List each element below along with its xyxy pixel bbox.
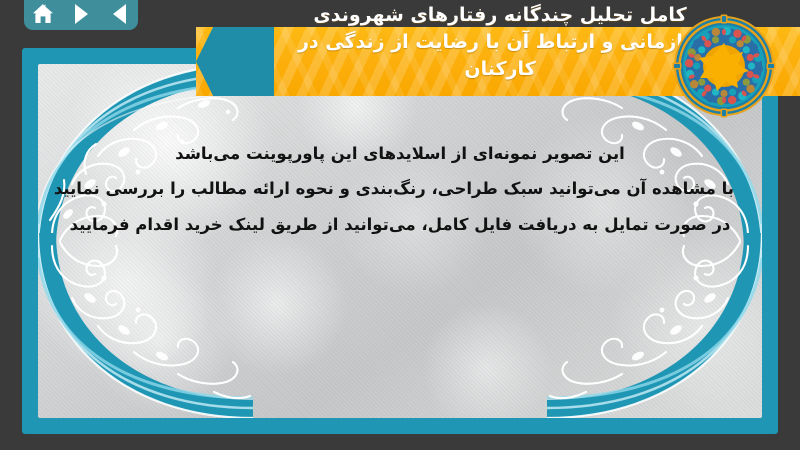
slide-viewer: کامل تحلیل چندگانه رفتارهای شهروندی سازم… [0, 0, 800, 450]
slide-content-area: این تصویر نمونه‌ای از اسلایدهای این پاور… [38, 64, 762, 418]
slide-body-text: این تصویر نمونه‌ای از اسلایدهای این پاور… [66, 142, 734, 237]
home-icon [31, 3, 55, 25]
corner-ornament-bottom-right [547, 233, 762, 418]
body-line-2: با مشاهده آن می‌توانید سبک طراحی، رنگ‌بن… [66, 177, 734, 201]
background-texture [38, 64, 762, 418]
slide-frame: این تصویر نمونه‌ای از اسلایدهای این پاور… [22, 48, 778, 434]
slide-navigation-bar [24, 0, 138, 30]
home-button[interactable] [29, 2, 57, 26]
triangle-left-icon [113, 4, 126, 24]
triangle-right-icon [75, 4, 88, 24]
body-line-3: در صورت تمایل به دریافت فایل کامل، می‌تو… [66, 213, 734, 237]
body-line-1: این تصویر نمونه‌ای از اسلایدهای این پاور… [66, 142, 734, 166]
corner-ornament-bottom-left [38, 233, 253, 418]
persian-medallion-ornament [672, 14, 776, 118]
previous-slide-button[interactable] [105, 2, 133, 26]
slide-title-line-1: کامل تحلیل چندگانه رفتارهای شهروندی [313, 2, 686, 29]
next-slide-button[interactable] [67, 2, 95, 26]
